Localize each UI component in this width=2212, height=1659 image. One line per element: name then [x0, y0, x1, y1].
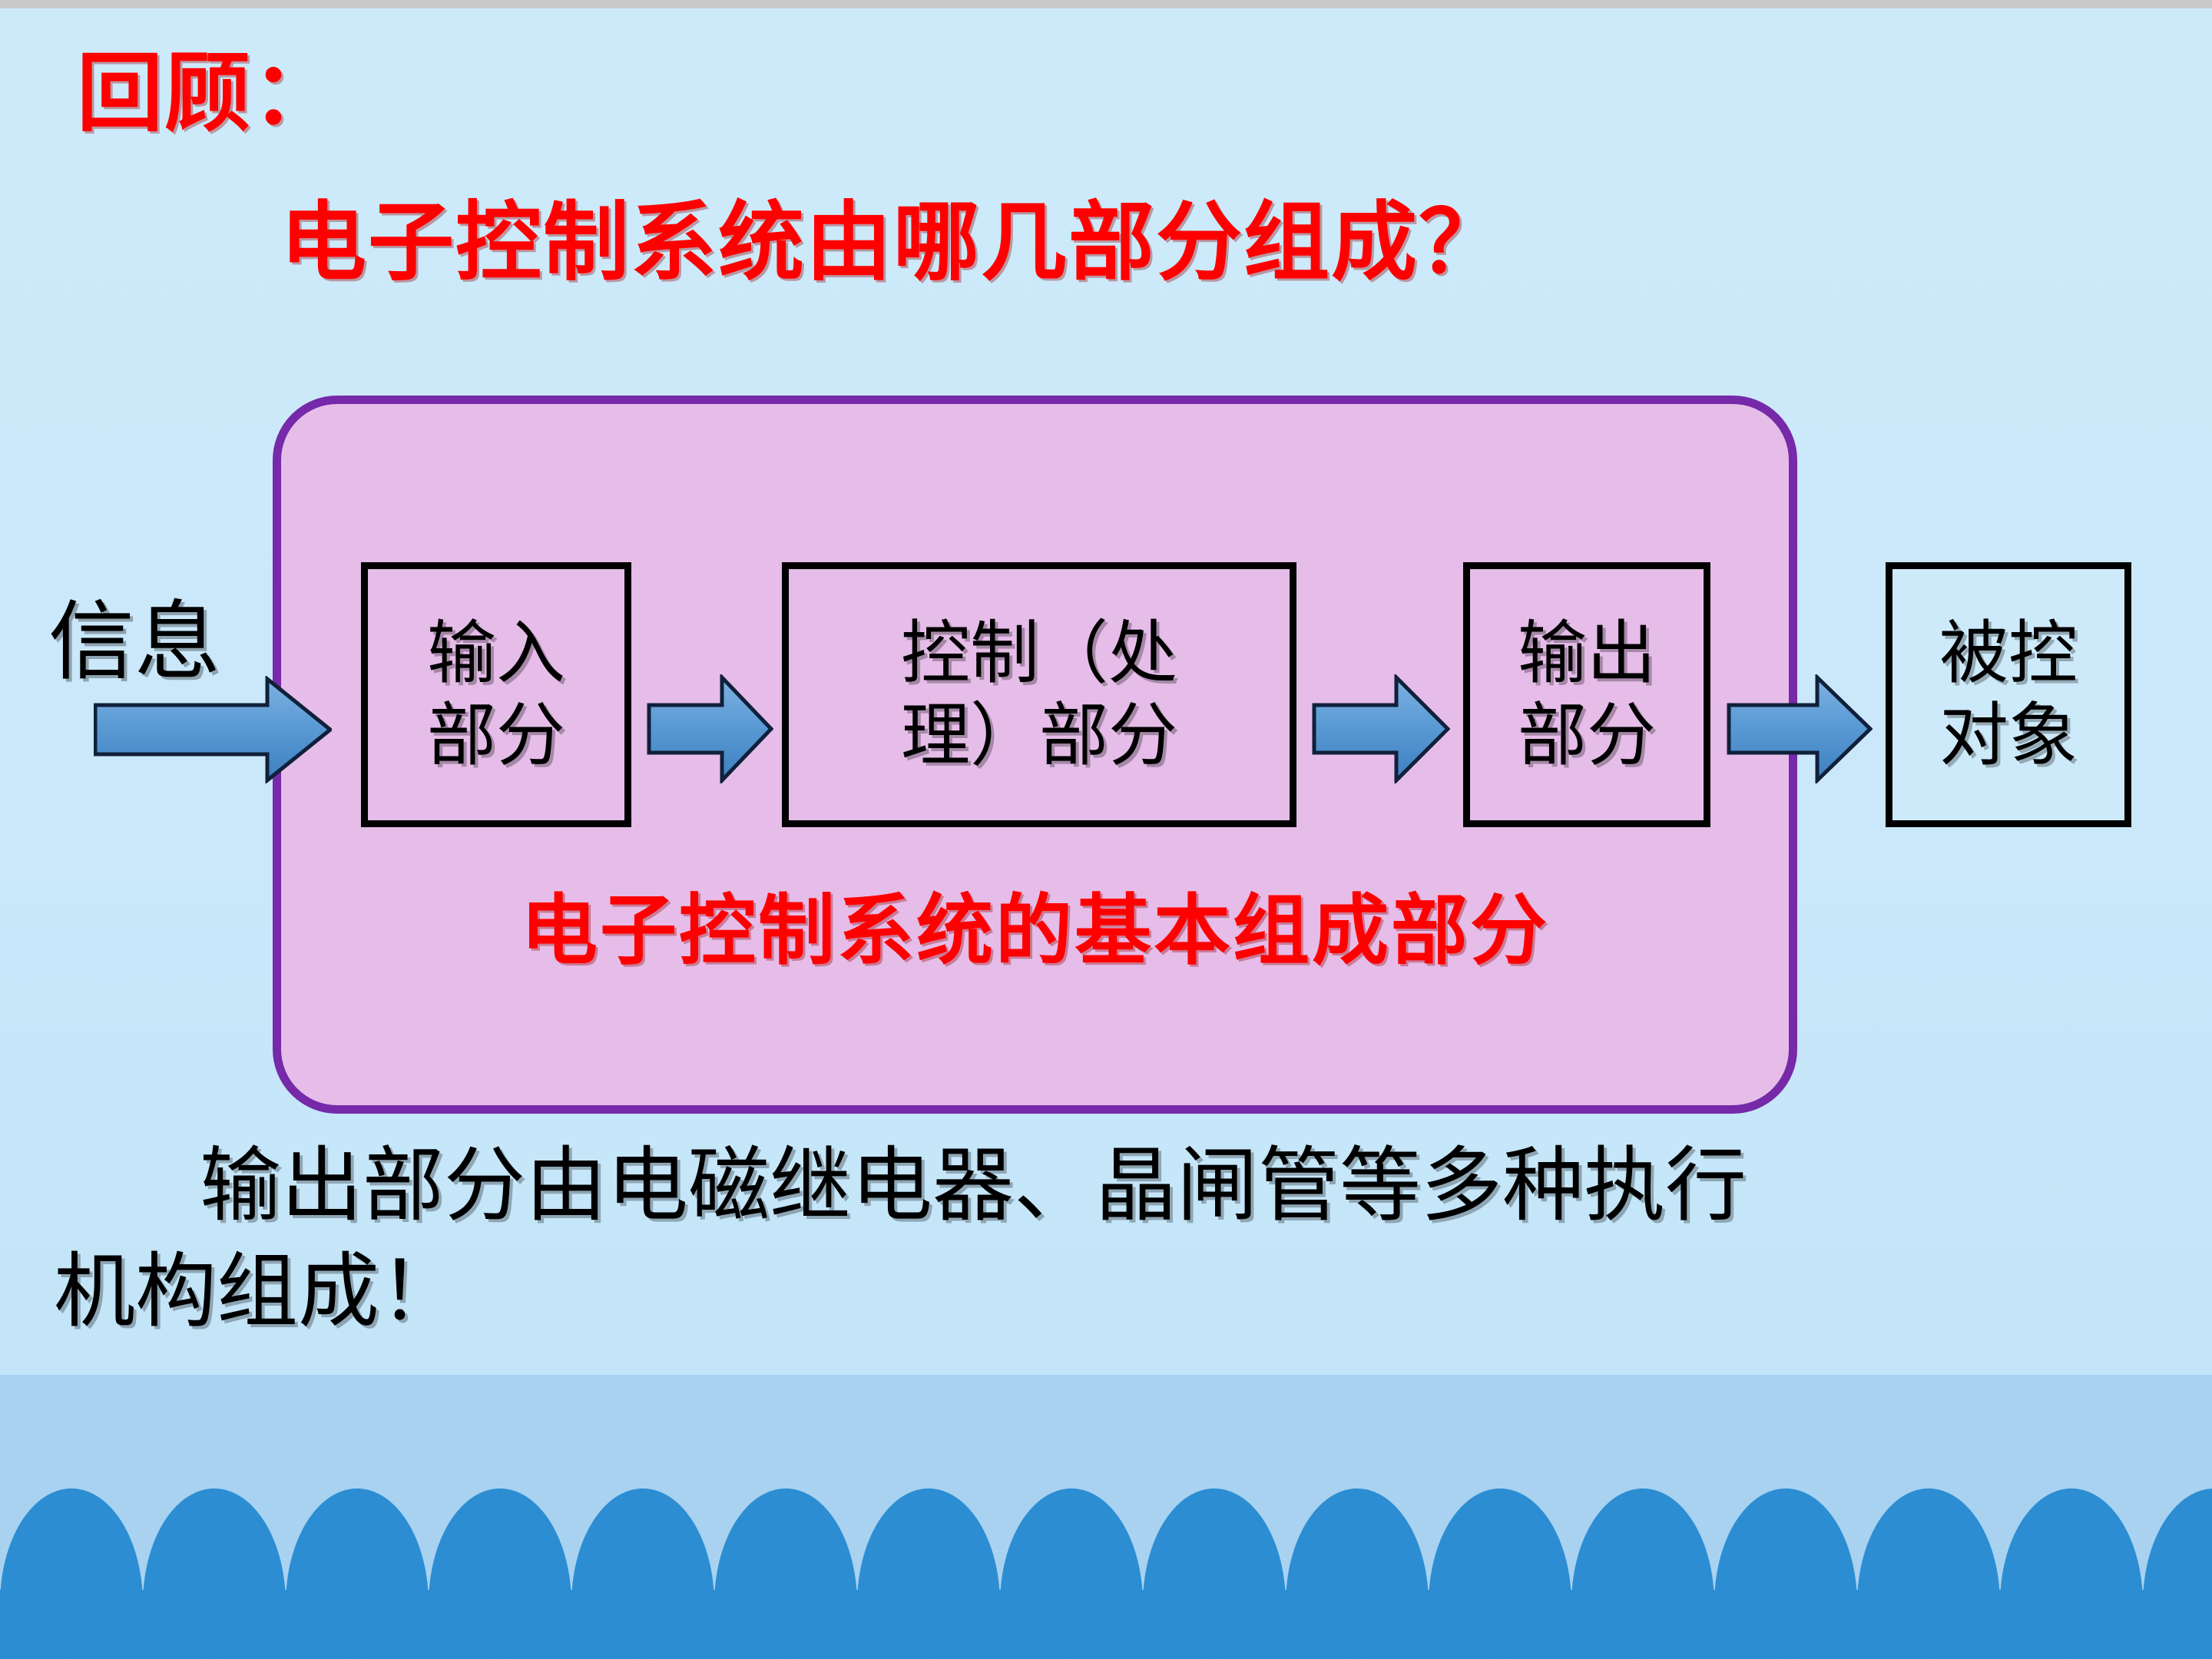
stage-box-output-line2: 部分: [1518, 695, 1656, 777]
stage-box-control-line1: 控制（处: [901, 613, 1177, 694]
bottom-decoration-band: [0, 1375, 2212, 1659]
arrow-ctrl-to-output-icon: [1312, 674, 1450, 783]
scallop-shape: [1500, 1590, 1643, 1659]
stage-box-input: 输入 部分: [361, 562, 631, 827]
top-border-strip: [0, 0, 2212, 8]
arrow-info-to-input-icon: [94, 676, 332, 783]
stage-box-input-line2: 部分: [427, 695, 565, 777]
bottom-note-line2: 机构组成！: [54, 1239, 2197, 1345]
bottom-note-line1: 输出部分由电磁继电器、晶闸管等多种执行: [54, 1133, 2197, 1239]
scallop-shape: [357, 1590, 500, 1659]
scallop-shape: [1786, 1590, 1929, 1659]
scallop-shape: [643, 1590, 786, 1659]
scallop-row-front: [0, 1590, 2202, 1659]
scallop-shape: [1357, 1590, 1500, 1659]
stage-box-controlled-object: 被控 对象: [1886, 562, 2131, 827]
scallop-shape: [71, 1590, 214, 1659]
scallop-shape: [786, 1590, 929, 1659]
page-subtitle-question: 电子控制系统由哪几部分组成？: [280, 194, 1506, 293]
scallop-shape: [0, 1590, 71, 1659]
scallop-shape: [214, 1590, 357, 1659]
stage-box-control-line2: 理）部分: [901, 695, 1177, 777]
scallop-shape: [1643, 1590, 1786, 1659]
scallop-shape: [1214, 1590, 1357, 1659]
arrow-input-to-ctrl-icon: [647, 674, 773, 783]
stage-box-output: 输出 部分: [1463, 562, 1710, 827]
stage-box-controlled-object-line2: 对象: [1939, 695, 2078, 777]
scallop-shape: [2071, 1590, 2212, 1659]
stage-box-output-line1: 输出: [1518, 613, 1656, 694]
bottom-note: 输出部分由电磁继电器、晶闸管等多种执行 机构组成！: [54, 1133, 2197, 1345]
scallop-shape: [1929, 1590, 2071, 1659]
scallop-shape: [500, 1590, 643, 1659]
stage-box-controlled-object-line1: 被控: [1939, 613, 2078, 694]
arrow-output-to-target-icon: [1727, 674, 1873, 783]
page-title: 回顾：: [77, 45, 339, 144]
scallop-shape: [1071, 1590, 1214, 1659]
scallop-shape: [929, 1590, 1071, 1659]
stage-box-control: 控制（处 理）部分: [782, 562, 1296, 827]
panel-caption: 电子控制系统的基本组成部分: [273, 868, 1797, 979]
stage-box-input-line1: 输入: [427, 613, 565, 694]
slide-canvas: 回顾： 电子控制系统由哪几部分组成？ 信息: [0, 0, 2212, 1659]
